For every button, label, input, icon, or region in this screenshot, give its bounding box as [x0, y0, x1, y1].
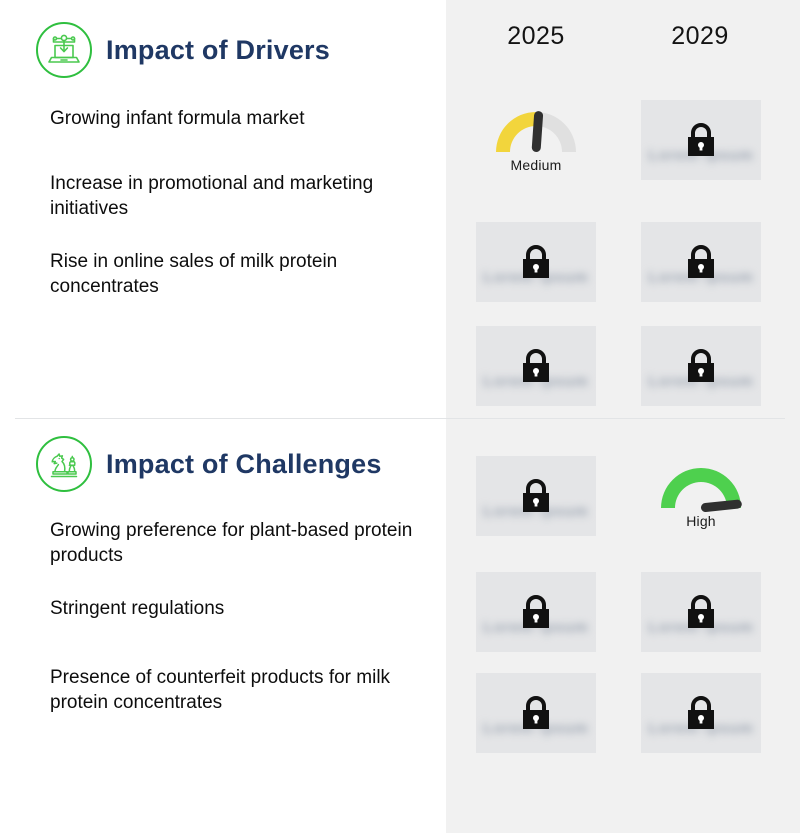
- cell-challenges-2029-row0[interactable]: High: [641, 456, 761, 538]
- gauge-dial-icon: [655, 456, 747, 512]
- gauge-level-label: Medium: [511, 157, 562, 173]
- section-title-drivers: Impact of Drivers: [106, 35, 330, 66]
- lock-icon: [684, 120, 718, 160]
- column-header-year-2029: 2029: [620, 22, 780, 51]
- locked-placeholder[interactable]: Lorem ipsum: [476, 456, 596, 536]
- cell-challenges-2029-row1[interactable]: Lorem ipsum: [641, 572, 761, 654]
- lock-icon: [684, 346, 718, 386]
- section-header-challenges: Impact of Challenges: [0, 432, 446, 496]
- lock-icon: [519, 346, 553, 386]
- section-header-drivers: Impact of Drivers: [0, 18, 446, 82]
- challenge-item-0: Growing preference for plant-based prote…: [50, 518, 422, 568]
- lock-icon: [519, 476, 553, 516]
- cell-drivers-2029-row2[interactable]: Lorem ipsum: [641, 326, 761, 408]
- driver-item-0: Growing infant formula market: [50, 106, 422, 131]
- section-divider: [15, 418, 785, 419]
- gauge-level-label: High: [686, 513, 716, 529]
- section-challenges: Impact of Challenges Growing preference …: [0, 432, 446, 715]
- locked-placeholder[interactable]: Lorem ipsum: [476, 673, 596, 753]
- cell-drivers-2029-row0[interactable]: Lorem ipsum: [641, 100, 761, 182]
- driver-item-2: Rise in online sales of milk protein con…: [50, 249, 422, 299]
- lock-icon: [519, 592, 553, 632]
- gauge-medium: Medium: [476, 100, 596, 182]
- challenge-item-1: Stringent regulations: [50, 596, 422, 621]
- cell-challenges-2025-row1[interactable]: Lorem ipsum: [476, 572, 596, 654]
- lock-icon: [684, 693, 718, 733]
- challenges-item-list: Growing preference for plant-based prote…: [0, 518, 446, 715]
- cell-drivers-2029-row1[interactable]: Lorem ipsum: [641, 222, 761, 304]
- cell-challenges-2029-row2[interactable]: Lorem ipsum: [641, 673, 761, 755]
- lock-icon: [684, 242, 718, 282]
- locked-placeholder[interactable]: Lorem ipsum: [476, 572, 596, 652]
- drivers-item-list: Growing infant formula market Increase i…: [0, 106, 446, 299]
- impact-matrix-page: 2025 2029 Impact of Drivers: [0, 0, 800, 833]
- section-drivers: Impact of Drivers Growing infant formula…: [0, 18, 446, 299]
- cell-drivers-2025-row1[interactable]: Lorem ipsum: [476, 222, 596, 304]
- locked-placeholder[interactable]: Lorem ipsum: [641, 326, 761, 406]
- cell-drivers-2025-row0[interactable]: Medium: [476, 100, 596, 182]
- gauge-high: High: [641, 456, 761, 538]
- lock-icon: [519, 242, 553, 282]
- gauge-dial-icon: [490, 100, 582, 156]
- laptop-download-drivers-icon: [36, 22, 92, 78]
- section-title-challenges: Impact of Challenges: [106, 449, 382, 480]
- locked-placeholder[interactable]: Lorem ipsum: [641, 222, 761, 302]
- cell-drivers-2025-row2[interactable]: Lorem ipsum: [476, 326, 596, 408]
- lock-icon: [519, 693, 553, 733]
- chess-pieces-challenges-icon: [36, 436, 92, 492]
- locked-placeholder[interactable]: Lorem ipsum: [641, 100, 761, 180]
- cell-challenges-2025-row2[interactable]: Lorem ipsum: [476, 673, 596, 755]
- column-header-year-2025: 2025: [456, 22, 616, 51]
- locked-placeholder[interactable]: Lorem ipsum: [641, 673, 761, 753]
- challenge-item-2: Presence of counterfeit products for mil…: [50, 665, 422, 715]
- cell-challenges-2025-row0[interactable]: Lorem ipsum: [476, 456, 596, 538]
- locked-placeholder[interactable]: Lorem ipsum: [641, 572, 761, 652]
- driver-item-1: Increase in promotional and marketing in…: [50, 171, 422, 221]
- lock-icon: [684, 592, 718, 632]
- locked-placeholder[interactable]: Lorem ipsum: [476, 326, 596, 406]
- locked-placeholder[interactable]: Lorem ipsum: [476, 222, 596, 302]
